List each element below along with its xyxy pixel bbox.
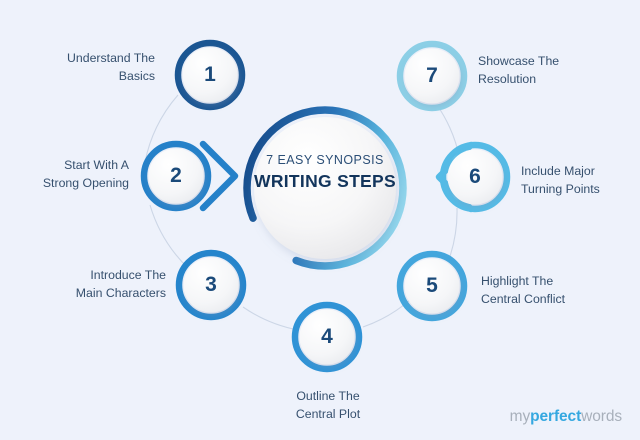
step-face-4 bbox=[300, 310, 355, 365]
step-node-2[interactable] bbox=[144, 144, 235, 208]
step-label-7-line1: Showcase The bbox=[478, 52, 559, 70]
hub-face bbox=[254, 117, 396, 259]
step-face-6 bbox=[448, 150, 503, 205]
step-node-1[interactable] bbox=[178, 43, 242, 107]
step-node-6[interactable] bbox=[439, 145, 507, 209]
step-face-1 bbox=[183, 48, 238, 103]
step-label-2-line2: Strong Opening bbox=[43, 174, 129, 192]
step-node-4[interactable] bbox=[295, 305, 359, 369]
step-label-5-line2: Central Conflict bbox=[481, 290, 565, 308]
connector-5-6 bbox=[448, 208, 457, 262]
step-label-6-line2: Turning Points bbox=[521, 180, 600, 198]
step-face-3 bbox=[184, 258, 239, 313]
step-label-3: Introduce The Main Characters bbox=[76, 266, 166, 302]
step-label-2-line1: Start With A bbox=[43, 156, 129, 174]
step-label-3-line2: Main Characters bbox=[76, 284, 166, 302]
brand-logo: myperfectwords bbox=[510, 408, 622, 426]
step-face-2 bbox=[149, 149, 204, 204]
step-label-4-line2: Central Plot bbox=[264, 405, 392, 423]
step-label-1: Understand The Basics bbox=[67, 49, 155, 85]
infographic-canvas: 7 EASY SYNOPSIS WRITING STEPS 1 2 3 4 5 … bbox=[0, 0, 640, 440]
step-label-2: Start With A Strong Opening bbox=[43, 156, 129, 192]
brand-logo-part1: my bbox=[510, 408, 530, 425]
step-label-4-line1: Outline The bbox=[264, 387, 392, 405]
step-label-4: Outline The Central Plot bbox=[264, 387, 392, 423]
step-label-3-line1: Introduce The bbox=[76, 266, 166, 284]
step-label-7-line2: Resolution bbox=[478, 70, 559, 88]
step-face-7 bbox=[405, 49, 460, 104]
step-label-5-line1: Highlight The bbox=[481, 272, 565, 290]
center-hub bbox=[247, 110, 403, 266]
step-face-5 bbox=[405, 259, 460, 314]
step-label-5: Highlight The Central Conflict bbox=[481, 272, 565, 308]
step-label-1-line2: Basics bbox=[67, 67, 155, 85]
step-label-6: Include Major Turning Points bbox=[521, 162, 600, 198]
brand-logo-part2: perfect bbox=[530, 408, 581, 425]
step-label-1-line1: Understand The bbox=[67, 49, 155, 67]
connector-3-4 bbox=[243, 307, 298, 330]
step-label-6-line1: Include Major bbox=[521, 162, 600, 180]
step-node-3[interactable] bbox=[179, 253, 243, 317]
brand-logo-part3: words bbox=[581, 408, 622, 425]
step-node-5[interactable] bbox=[400, 254, 464, 318]
step-node-7[interactable] bbox=[400, 44, 464, 108]
connector-2-3 bbox=[150, 205, 188, 268]
step-label-7: Showcase The Resolution bbox=[478, 52, 559, 88]
